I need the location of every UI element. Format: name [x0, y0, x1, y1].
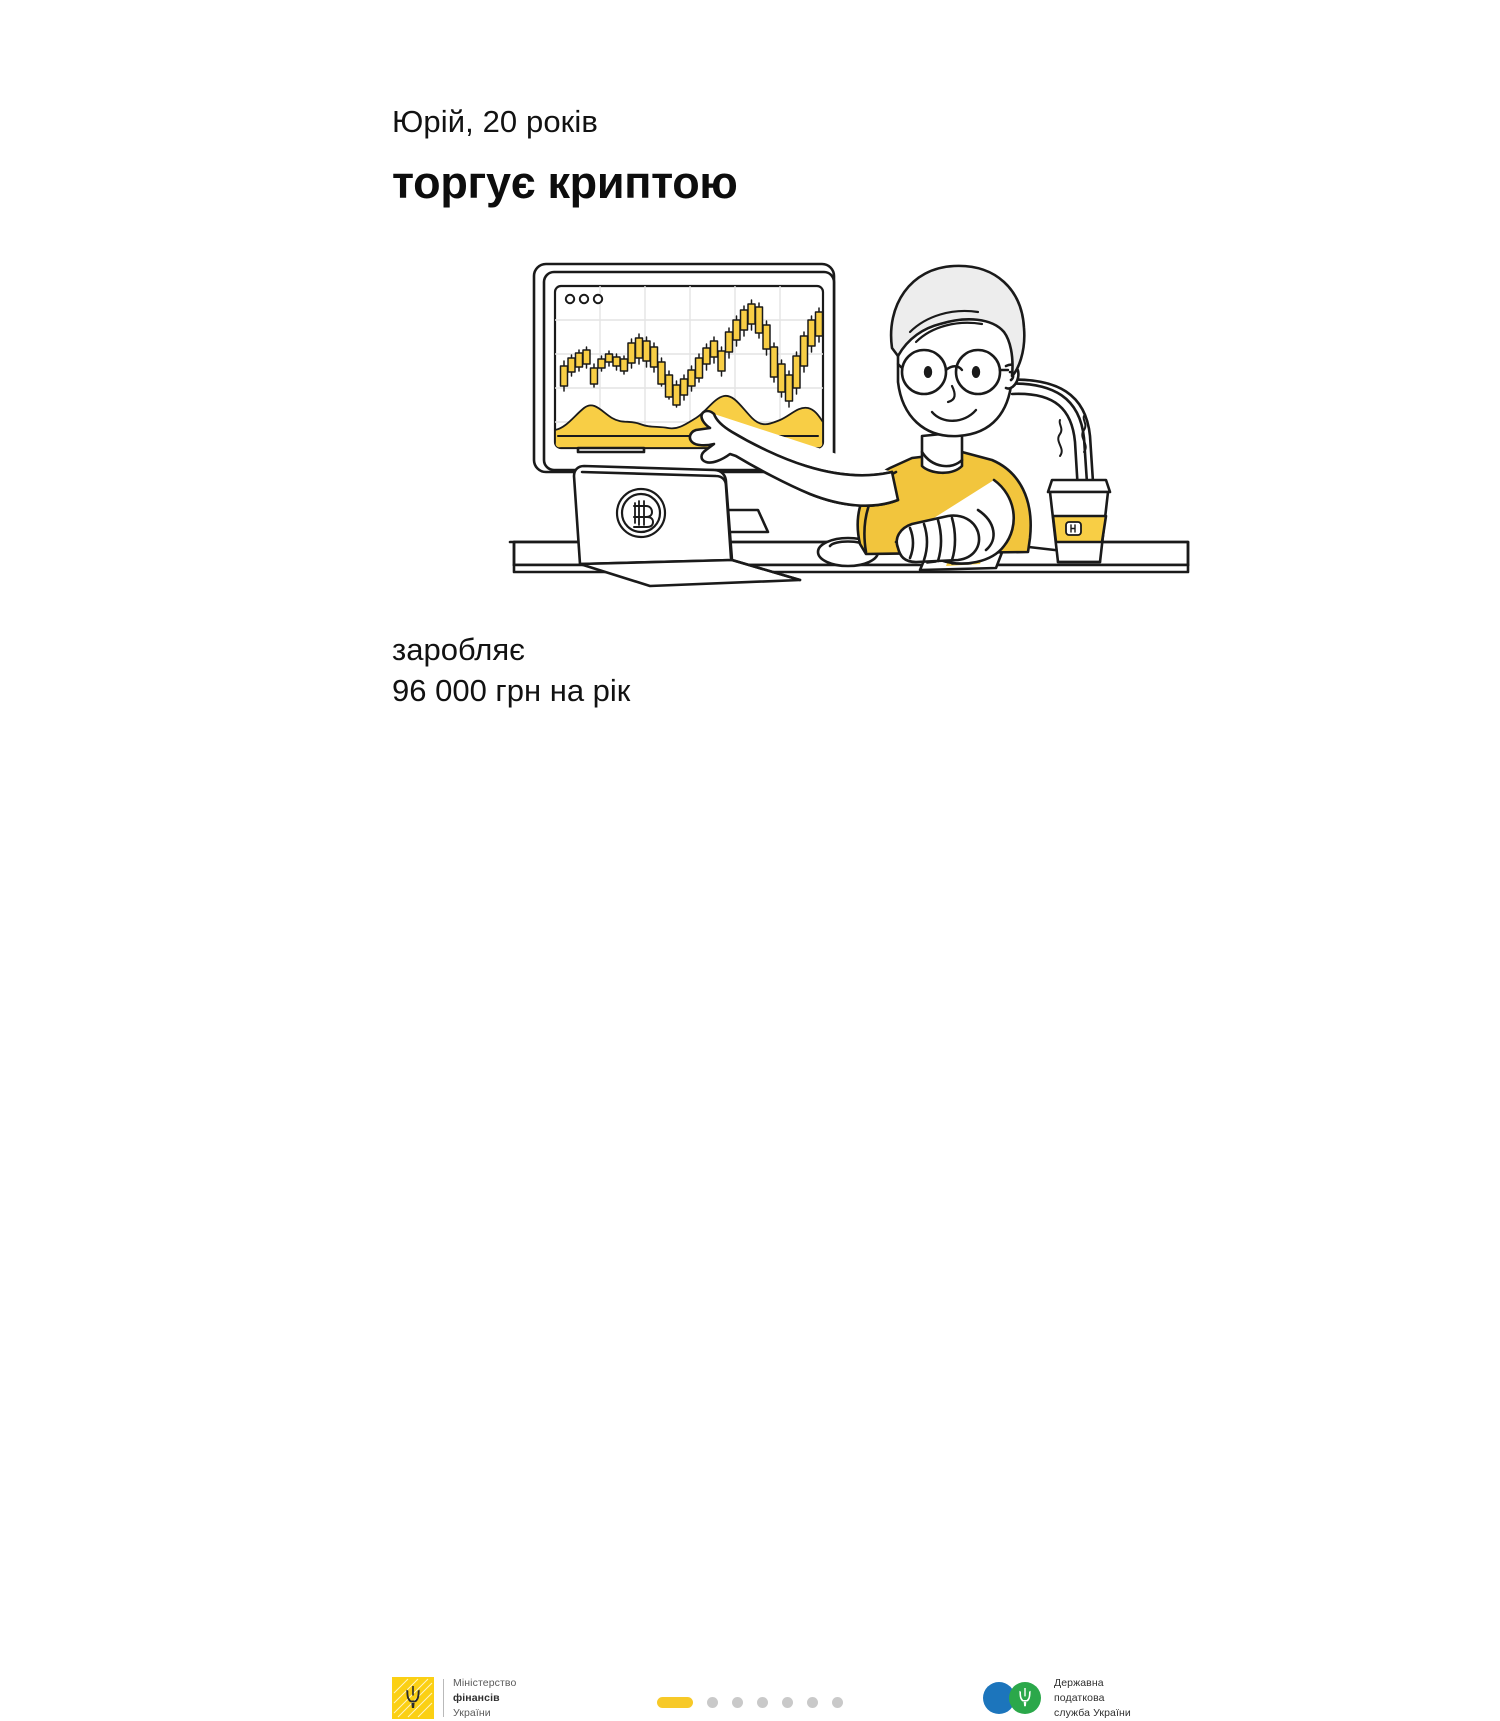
illustration-crypto-trader	[500, 180, 1200, 620]
slide-canvas: Юрій, 20 років торгує криптою	[0, 0, 1500, 920]
footer: Міністерство фінансів України	[0, 828, 1500, 920]
tax-service-icon	[982, 1680, 1044, 1716]
pagination-dot-7[interactable]	[832, 1697, 843, 1708]
pagination-dot-4[interactable]	[757, 1697, 768, 1708]
window-dots	[566, 295, 602, 303]
tax-line-2: податкова	[1054, 1691, 1131, 1706]
minfin-line-3: України	[453, 1706, 516, 1721]
earnings-block: заробляє 96 000 грн на рік	[392, 630, 952, 712]
earnings-label: заробляє	[392, 630, 952, 671]
tax-line-3: служба України	[1054, 1706, 1131, 1721]
earnings-amount: 96 000 грн на рік	[392, 671, 952, 712]
pagination-dot-3[interactable]	[732, 1697, 743, 1708]
carousel-pagination[interactable]	[0, 1697, 1500, 1708]
pagination-dot-2[interactable]	[707, 1697, 718, 1708]
minfin-line-1: Міністерство	[453, 1676, 516, 1691]
logo-state-tax-service[interactable]: Державна податкова служба України	[982, 1676, 1131, 1721]
pagination-dot-5[interactable]	[782, 1697, 793, 1708]
pagination-dot-6[interactable]	[807, 1697, 818, 1708]
pagination-dot-1[interactable]	[657, 1697, 693, 1708]
persona-eyebrow: Юрій, 20 років	[392, 104, 912, 141]
tax-line-1: Державна	[1054, 1676, 1131, 1691]
tax-service-wordmark: Державна податкова служба України	[1054, 1676, 1131, 1721]
